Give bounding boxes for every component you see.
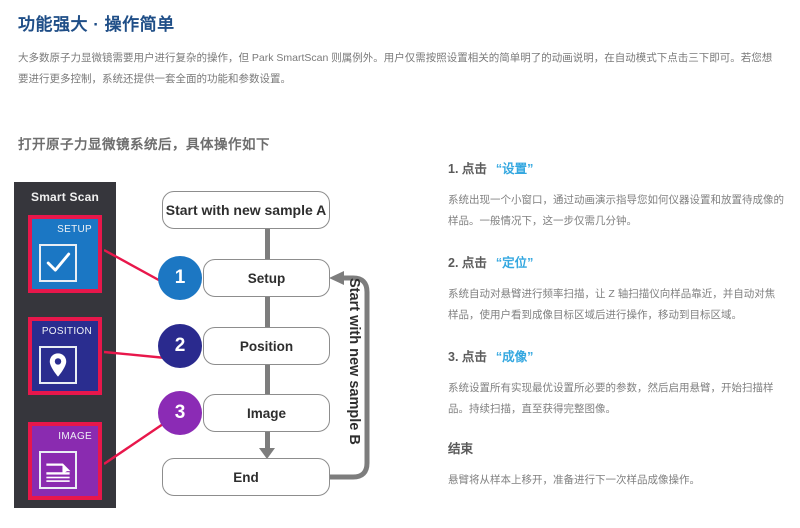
- instruction-body-3: 系统设置所有实现最优设置所必要的参数，然后启用悬臂，开始扫描样品。持续扫描，直至…: [448, 378, 784, 420]
- section-subtitle: 打开原子力显微镜系统后，具体操作如下: [18, 133, 270, 153]
- instruction-body-final: 悬臂将从样本上移开，准备进行下一次样品成像操作。: [448, 470, 784, 491]
- page-root: 功能强大 · 操作简单 大多数原子力显微镜需要用户进行复杂的操作，但 Park …: [0, 0, 800, 528]
- tile-setup[interactable]: SETUP: [28, 215, 102, 293]
- tile-position-label: POSITION: [42, 326, 92, 337]
- instruction-title-3: 3. 点击“成像”: [448, 346, 784, 365]
- map-pin-icon: [39, 346, 77, 384]
- flowchart: Start with new sample A Setup Position I…: [120, 180, 410, 510]
- flow-node-setup[interactable]: Setup: [203, 259, 330, 297]
- flow-node-position[interactable]: Position: [203, 327, 330, 365]
- flow-node-start[interactable]: Start with new sample A: [162, 191, 330, 229]
- tile-setup-label: SETUP: [57, 224, 92, 235]
- flow-step-number-1[interactable]: 1: [158, 256, 202, 300]
- flow-loop-label: Start with new sample B: [346, 278, 362, 445]
- page-title: 功能强大 · 操作简单: [18, 10, 175, 35]
- smart-scan-title: Smart Scan: [14, 190, 116, 204]
- instruction-title-1: 1. 点击“设置”: [448, 158, 784, 177]
- instruction-title-2-highlight: “定位”: [496, 256, 534, 270]
- instruction-title-2: 2. 点击“定位”: [448, 252, 784, 271]
- instruction-title-3-prefix: 3. 点击: [448, 350, 487, 364]
- flow-step-number-2[interactable]: 2: [158, 324, 202, 368]
- instruction-title-1-prefix: 1. 点击: [448, 162, 487, 176]
- tile-position[interactable]: POSITION: [28, 317, 102, 395]
- flow-node-image[interactable]: Image: [203, 394, 330, 432]
- flow-step-number-3[interactable]: 3: [158, 391, 202, 435]
- check-icon: [39, 244, 77, 282]
- instruction-title-final-prefix: 结束: [448, 442, 473, 456]
- smart-scan-panel: Smart Scan SETUP POSITION IMAGE: [14, 182, 116, 508]
- tile-image[interactable]: IMAGE: [28, 422, 102, 500]
- intro-paragraph: 大多数原子力显微镜需要用户进行复杂的操作，但 Park SmartScan 则属…: [18, 48, 780, 90]
- instructions-column: 1. 点击“设置” 系统出现一个小窗口，通过动画演示指导您如何仪器设置和放置待成…: [448, 158, 784, 511]
- instruction-title-1-highlight: “设置”: [496, 162, 534, 176]
- instruction-title-final: 结束: [448, 438, 784, 457]
- tile-image-label: IMAGE: [58, 431, 92, 442]
- instruction-body-1: 系统出现一个小窗口，通过动画演示指导您如何仪器设置和放置待成像的样品。一般情况下…: [448, 190, 784, 232]
- instruction-title-2-prefix: 2. 点击: [448, 256, 487, 270]
- flow-node-end[interactable]: End: [162, 458, 330, 496]
- instruction-body-2: 系统自动对悬臂进行频率扫描，让 Z 轴扫描仪向样品靠近，并自动对焦样品，使用户看…: [448, 284, 784, 326]
- instruction-title-3-highlight: “成像”: [496, 350, 534, 364]
- image-scan-icon: [39, 451, 77, 489]
